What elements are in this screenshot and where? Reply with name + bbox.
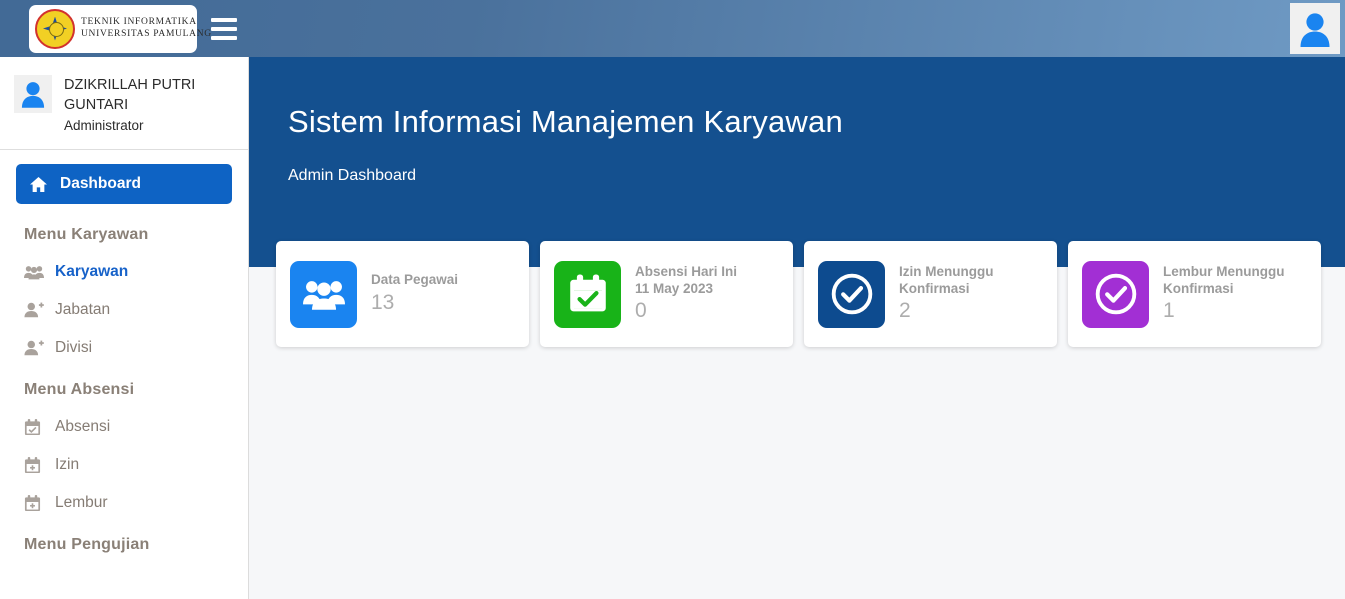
card-value: 13: [371, 290, 458, 317]
card-icon-wrapper: [818, 261, 885, 328]
card-value: 1: [1163, 298, 1285, 325]
sidebar-item-label: Karyawan: [55, 263, 128, 281]
card-icon-wrapper: [1082, 261, 1149, 328]
calendar-plus-icon: [24, 456, 44, 474]
user-plus-icon: [24, 301, 44, 319]
home-icon: [29, 175, 49, 193]
calendar-plus-icon: [24, 494, 44, 512]
calendar-check-icon: [24, 418, 44, 436]
page-subtitle: Admin Dashboard: [288, 167, 1345, 185]
hero-banner: Sistem Informasi Manajemen Karyawan Admi…: [249, 57, 1345, 267]
card-icon-wrapper: [554, 261, 621, 328]
card-body: Absensi Hari Ini 11 May 2023 0: [635, 263, 737, 325]
sidebar-item-label: Absensi: [55, 418, 110, 436]
card-body: Lembur Menunggu Konfirmasi 1: [1163, 263, 1285, 325]
sidebar-item-lembur[interactable]: Lembur: [0, 484, 248, 522]
user-plus-icon: [24, 339, 44, 357]
page-title: Sistem Informasi Manajemen Karyawan: [288, 104, 1345, 140]
top-bar: TEKNIK INFORMATIKA UNIVERSITAS PAMULANG: [0, 0, 1345, 57]
stat-card-absensi-hari-ini[interactable]: Absensi Hari Ini 11 May 2023 0: [540, 241, 793, 347]
user-avatar-icon: [20, 80, 46, 108]
sidebar-item-jabatan[interactable]: Jabatan: [0, 291, 248, 329]
card-body: Data Pegawai 13: [371, 271, 458, 316]
stat-card-data-pegawai[interactable]: Data Pegawai 13: [276, 241, 529, 347]
brand-line-1: TEKNIK INFORMATIKA: [81, 17, 212, 29]
sidebar-item-izin[interactable]: Izin: [0, 446, 248, 484]
stat-card-lembur-menunggu-konfirmasi[interactable]: Lembur Menunggu Konfirmasi 1: [1068, 241, 1321, 347]
sidebar-nav: Dashboard Menu Karyawan Karyawan: [0, 150, 248, 563]
stat-card-izin-menunggu-konfirmasi[interactable]: Izin Menunggu Konfirmasi 2: [804, 241, 1057, 347]
users-group-icon: [303, 279, 345, 310]
card-label-line2: Konfirmasi: [899, 280, 993, 297]
avatar: [14, 75, 52, 113]
check-circle-icon: [1094, 272, 1138, 316]
sidebar-item-label: Lembur: [55, 494, 108, 512]
hamburger-menu-icon[interactable]: [211, 14, 237, 44]
users-group-icon: [24, 263, 44, 281]
card-value: 2: [899, 298, 993, 325]
sidebar: DZIKRILLAH PUTRI GUNTARI Administrator D…: [0, 57, 249, 599]
sidebar-heading-pengujian: Menu Pengujian: [0, 522, 248, 563]
sidebar-item-divisi[interactable]: Divisi: [0, 329, 248, 367]
card-label: Data Pegawai: [371, 271, 458, 288]
card-date: 11 May 2023: [635, 280, 737, 297]
hamburger-bar: [211, 27, 237, 31]
card-icon-wrapper: [290, 261, 357, 328]
stat-cards: Data Pegawai 13 Absensi Hari Ini 11 May …: [276, 241, 1321, 347]
brand-line-2: UNIVERSITAS PAMULANG: [81, 29, 212, 41]
sidebar-item-absensi[interactable]: Absensi: [0, 408, 248, 446]
user-avatar-icon: [1298, 11, 1332, 47]
hamburger-bar: [211, 36, 237, 40]
dashboard-page: TEKNIK INFORMATIKA UNIVERSITAS PAMULANG: [0, 0, 1345, 599]
profile-info: DZIKRILLAH PUTRI GUNTARI Administrator: [64, 75, 214, 133]
profile-name: DZIKRILLAH PUTRI GUNTARI: [64, 76, 214, 115]
sidebar-item-dashboard[interactable]: Dashboard: [16, 164, 232, 204]
sidebar-heading-absensi: Menu Absensi: [0, 367, 248, 408]
profile-role: Administrator: [64, 118, 214, 133]
sidebar-item-karyawan[interactable]: Karyawan: [0, 253, 248, 291]
card-value: 0: [635, 298, 737, 325]
hamburger-bar: [211, 18, 237, 22]
brand-text: TEKNIK INFORMATIKA UNIVERSITAS PAMULANG: [81, 17, 212, 41]
brand-logo[interactable]: TEKNIK INFORMATIKA UNIVERSITAS PAMULANG: [29, 5, 197, 53]
card-label-line2: Konfirmasi: [1163, 280, 1285, 297]
sidebar-item-label: Divisi: [55, 339, 92, 357]
sidebar-heading-karyawan: Menu Karyawan: [0, 212, 248, 253]
card-label: Izin Menunggu: [899, 263, 993, 280]
card-label: Absensi Hari Ini: [635, 263, 737, 280]
hero-inner: Sistem Informasi Manajemen Karyawan Admi…: [249, 57, 1345, 185]
calendar-check-icon: [568, 274, 608, 314]
card-label: Lembur Menunggu: [1163, 263, 1285, 280]
sidebar-item-label: Dashboard: [60, 175, 141, 193]
user-avatar-button[interactable]: [1290, 3, 1340, 54]
sidebar-profile: DZIKRILLAH PUTRI GUNTARI Administrator: [0, 57, 248, 150]
university-logo-icon: [35, 9, 75, 49]
check-circle-icon: [830, 272, 874, 316]
card-body: Izin Menunggu Konfirmasi 2: [899, 263, 993, 325]
sidebar-item-label: Izin: [55, 456, 79, 474]
sidebar-item-label: Jabatan: [55, 301, 110, 319]
